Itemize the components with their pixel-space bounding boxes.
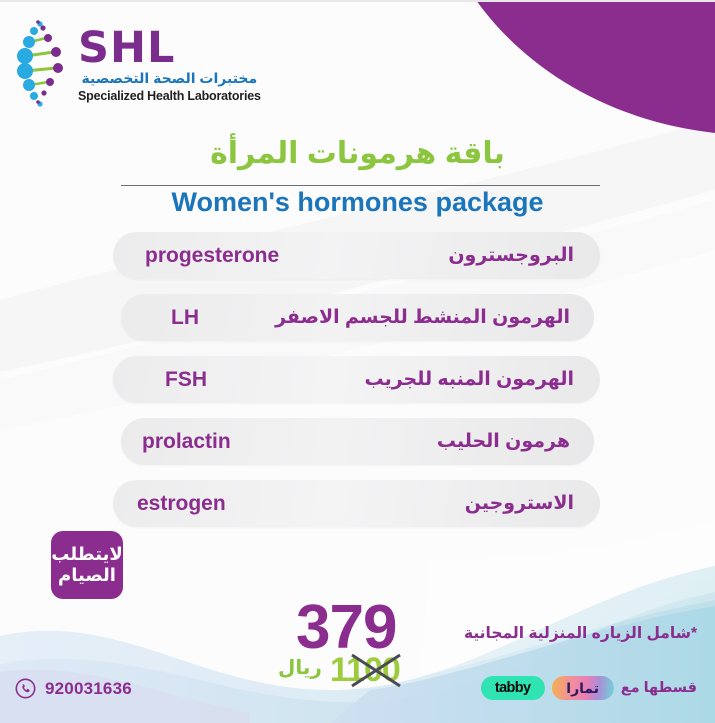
page-title-english: Women's hormones package xyxy=(0,187,715,218)
list-item: LH الهرمون المنشط للجسم الاصفر xyxy=(121,294,594,341)
brand-logo-text: SHL مختبرات الصحة التخصصية Specialized H… xyxy=(78,28,261,103)
list-item: progesterone البروجسترون xyxy=(113,232,600,279)
installment-label: قسطها مع xyxy=(621,680,697,696)
hormone-name-en: prolactin xyxy=(142,430,231,454)
tabby-logo[interactable]: tabby xyxy=(481,676,545,700)
hormone-name-en: FSH xyxy=(165,368,207,392)
home-visit-note: *شامل الزياره المنزلية المجانية xyxy=(464,624,697,643)
phone-circle-icon xyxy=(15,678,36,699)
brand-logo: SHL مختبرات الصحة التخصصية Specialized H… xyxy=(10,18,261,110)
no-fasting-badge: لايتطلب الصيام xyxy=(51,531,123,599)
hormone-name-en: progesterone xyxy=(145,244,279,268)
old-price: 1100 xyxy=(330,650,426,690)
list-item: estrogen الاستروجين xyxy=(113,480,600,527)
phone-number: 920031636 xyxy=(45,679,132,699)
promo-poster: SHL مختبرات الصحة التخصصية Specialized H… xyxy=(0,0,715,723)
hormone-name-ar: الهرمون المنبه للجريب xyxy=(364,368,574,391)
tabby-logo-text: tabby xyxy=(495,680,531,696)
installment-options: tabby تمارا قسطها مع xyxy=(481,676,697,700)
hormone-name-ar: الهرمون المنشط للجسم الاصفر xyxy=(275,306,570,329)
page-title-arabic: باقة هرمونات المرأة xyxy=(0,136,715,171)
brand-tagline-en: Specialized Health Laboratories xyxy=(78,89,261,103)
dna-dots-icon xyxy=(10,18,72,110)
strikethrough-x-icon xyxy=(346,650,406,690)
hormone-name-ar: الاستروجين xyxy=(465,492,574,515)
list-item: FSH الهرمون المنبه للجريب xyxy=(113,356,600,403)
no-fasting-badge-line1: لايتطلب xyxy=(51,544,122,565)
price-currency: ريال xyxy=(278,655,322,680)
no-fasting-badge-line2: الصيام xyxy=(58,565,116,586)
hormone-name-ar: هرمون الحليب xyxy=(437,430,570,453)
hormone-name-en: estrogen xyxy=(137,492,226,516)
list-item: prolactin هرمون الحليب xyxy=(121,418,594,465)
hormone-name-en: LH xyxy=(171,306,199,330)
brand-name-en: SHL xyxy=(78,28,261,69)
brand-name-ar: مختبرات الصحة التخصصية xyxy=(78,70,261,87)
contact-phone[interactable]: 920031636 xyxy=(15,678,132,699)
title-divider xyxy=(121,185,600,186)
tamara-logo-text: تمارا xyxy=(566,680,599,697)
hormone-list: progesterone البروجسترون LH الهرمون المن… xyxy=(0,232,715,542)
tamara-logo[interactable]: تمارا xyxy=(552,676,614,700)
hormone-name-ar: البروجسترون xyxy=(448,244,574,267)
